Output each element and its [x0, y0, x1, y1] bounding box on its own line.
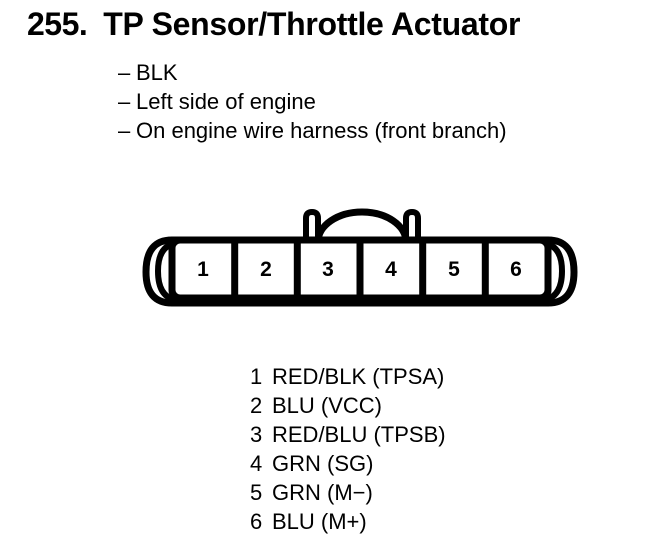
dash-bullet-icon: – — [118, 87, 136, 116]
legend-pin-description: RED/BLU (TPSB) — [272, 420, 446, 449]
legend-pin-description: GRN (SG) — [272, 449, 373, 478]
legend-pin-description: GRN (M−) — [272, 478, 373, 507]
spec-text: BLK — [136, 58, 178, 87]
page-title: 255. TP Sensor/Throttle Actuator — [27, 6, 520, 43]
legend-pin-number: 6 — [250, 507, 272, 536]
legend-pin-description: BLU (M+) — [272, 507, 367, 536]
legend-item: 6 BLU (M+) — [250, 507, 446, 536]
specification-list: – BLK – Left side of engine – On engine … — [118, 58, 638, 145]
legend-pin-number: 4 — [250, 449, 272, 478]
pin-number: 2 — [260, 258, 272, 281]
spec-text: On engine wire harness (front branch) — [136, 116, 507, 145]
spec-text: Left side of engine — [136, 87, 316, 116]
legend-pin-number: 1 — [250, 362, 272, 391]
list-item: – Left side of engine — [118, 87, 638, 116]
legend-pin-number: 2 — [250, 391, 272, 420]
pin-number: 5 — [448, 258, 460, 281]
pin-legend: 1 RED/BLK (TPSA) 2 BLU (VCC) 3 RED/BLU (… — [250, 362, 446, 536]
component-title: TP Sensor/Throttle Actuator — [103, 6, 520, 43]
legend-item: 4 GRN (SG) — [250, 449, 446, 478]
list-item: – On engine wire harness (front branch) — [118, 116, 638, 145]
pin-number: 6 — [510, 258, 522, 281]
dash-bullet-icon: – — [118, 58, 136, 87]
pin-number: 3 — [322, 258, 334, 281]
legend-item: 5 GRN (M−) — [250, 478, 446, 507]
legend-item: 3 RED/BLU (TPSB) — [250, 420, 446, 449]
legend-pin-description: RED/BLK (TPSA) — [272, 362, 444, 391]
legend-pin-number: 3 — [250, 420, 272, 449]
legend-pin-number: 5 — [250, 478, 272, 507]
pin-number: 4 — [385, 258, 397, 281]
item-number: 255. — [27, 6, 87, 43]
pin-number: 1 — [197, 258, 209, 281]
list-item: – BLK — [118, 58, 638, 87]
legend-item: 1 RED/BLK (TPSA) — [250, 362, 446, 391]
connector-diagram: 1 2 3 4 5 6 — [140, 205, 580, 310]
legend-pin-description: BLU (VCC) — [272, 391, 382, 420]
legend-item: 2 BLU (VCC) — [250, 391, 446, 420]
dash-bullet-icon: – — [118, 116, 136, 145]
